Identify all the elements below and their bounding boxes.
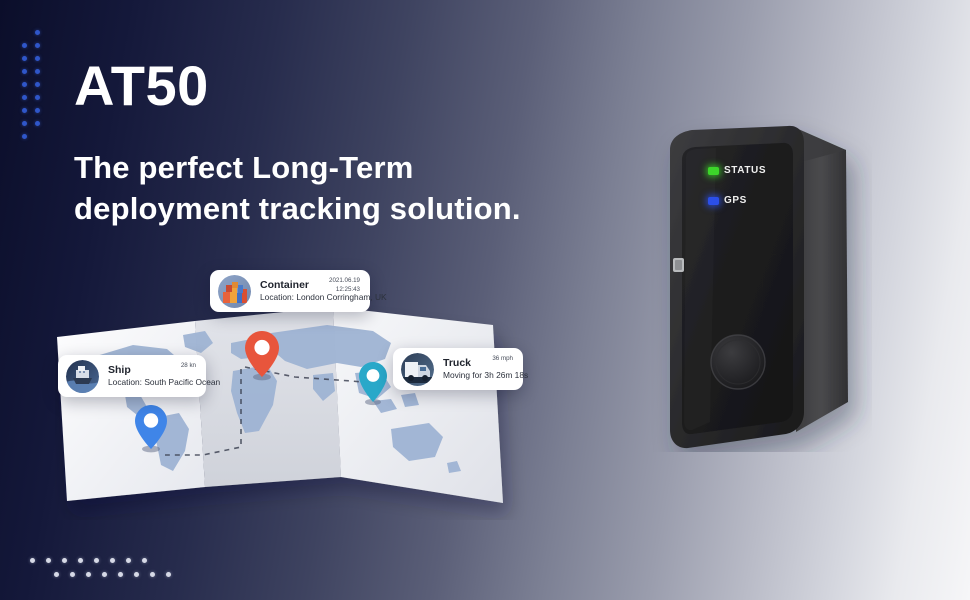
- decor-dot: [110, 558, 115, 563]
- truck-icon: [401, 353, 434, 386]
- status-led-indicator: [708, 167, 719, 175]
- decorative-dot-grid-left: [22, 30, 48, 147]
- decor-dot: [22, 43, 27, 48]
- decor-dot: [35, 30, 40, 35]
- card-meta: 2021.06.19 12:25:43: [329, 277, 360, 295]
- decor-dot: [22, 134, 27, 139]
- card-meta-speed: 28 kn: [181, 362, 196, 371]
- decor-dot: [62, 558, 67, 563]
- decor-dot: [22, 69, 27, 74]
- decor-dot: [35, 95, 40, 100]
- tracker-card-container[interactable]: Container Location: London Corringham, U…: [210, 270, 370, 312]
- gps-led-indicator: [708, 197, 719, 205]
- decor-dot: [35, 69, 40, 74]
- promo-banner: AT50 The perfect Long-Term deployment tr…: [0, 0, 970, 600]
- card-meta-speed: 36 mph: [492, 355, 513, 364]
- decor-dot: [150, 572, 155, 577]
- decor-dot: [35, 43, 40, 48]
- tracker-card-ship[interactable]: Ship Location: South Pacific Ocean 28 kn: [58, 355, 206, 397]
- decor-dot: [134, 572, 139, 577]
- decor-dot: [35, 108, 40, 113]
- card-meta: 36 mph: [492, 355, 513, 364]
- decor-dot: [35, 56, 40, 61]
- card-meta-time: 12:25:43: [329, 286, 360, 295]
- card-detail: Moving for 3h 26m 18s: [443, 370, 512, 381]
- decorative-dot-grid-bottom: [30, 558, 174, 586]
- decor-dot: [22, 108, 27, 113]
- decor-dot: [35, 121, 40, 126]
- decor-dot: [30, 558, 35, 563]
- world-map-illustration: [55, 295, 545, 520]
- gps-tracker-device: [646, 112, 872, 452]
- status-led-label: STATUS: [724, 165, 766, 176]
- card-detail: Location: South Pacific Ocean: [108, 377, 195, 388]
- subtitle-line-2: deployment tracking solution.: [74, 188, 521, 229]
- card-meta-date: 2021.06.19: [329, 277, 360, 286]
- decor-dot: [22, 30, 27, 35]
- decor-dot: [35, 82, 40, 87]
- ship-icon: [66, 360, 99, 393]
- decor-dot: [30, 572, 35, 577]
- decor-dot: [118, 572, 123, 577]
- decor-dot: [158, 558, 163, 563]
- decor-dot: [70, 572, 75, 577]
- decor-dot: [54, 572, 59, 577]
- decor-dot: [142, 558, 147, 563]
- decor-dot: [46, 558, 51, 563]
- decor-dot: [22, 82, 27, 87]
- decor-dot: [78, 558, 83, 563]
- page-subtitle: The perfect Long-Term deployment trackin…: [74, 147, 521, 229]
- decor-dot: [22, 56, 27, 61]
- page-title: AT50: [74, 58, 209, 114]
- decor-dot: [102, 572, 107, 577]
- shipping-container-icon: [218, 275, 251, 308]
- gps-led-label: GPS: [724, 195, 747, 206]
- decor-dot: [166, 572, 171, 577]
- decor-dot: [22, 121, 27, 126]
- tracker-card-truck[interactable]: Truck Moving for 3h 26m 18s 36 mph: [393, 348, 523, 390]
- decor-dot: [126, 558, 131, 563]
- card-meta: 28 kn: [181, 362, 196, 371]
- decor-dot: [22, 95, 27, 100]
- subtitle-line-1: The perfect Long-Term: [74, 147, 521, 188]
- decor-dot: [94, 558, 99, 563]
- decor-dot: [86, 572, 91, 577]
